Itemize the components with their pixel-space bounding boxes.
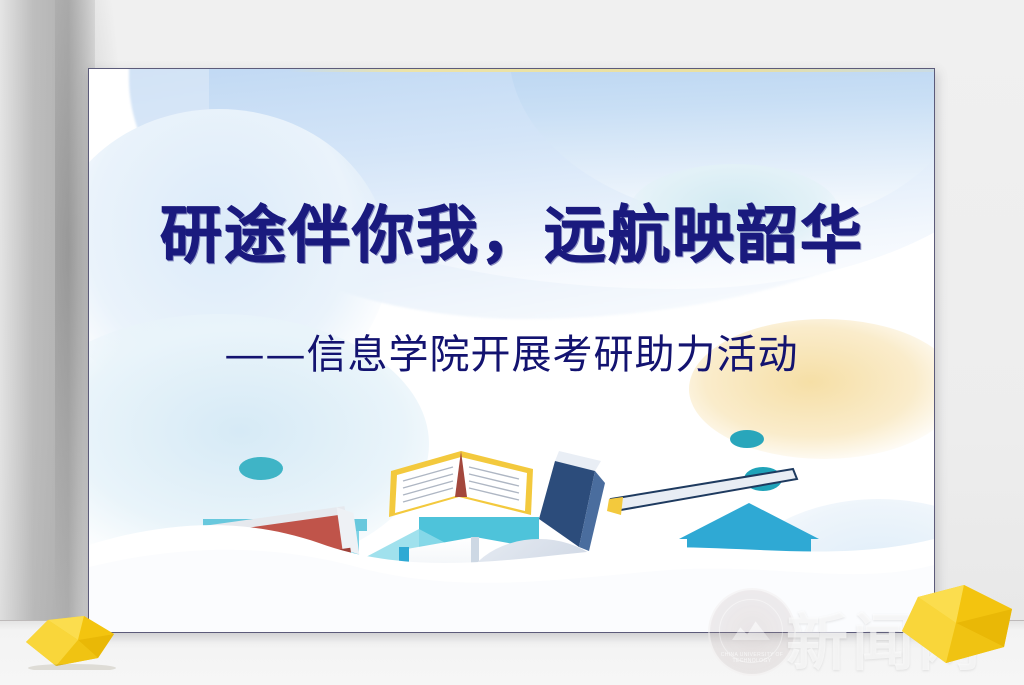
poster: 研途伴你我，远航映韶华 ——信息学院开展考研助力活动 <box>88 68 935 633</box>
page-title: 研途伴你我，远航映韶华 <box>89 184 934 274</box>
student-figure-far-left <box>468 586 498 632</box>
floating-dark-book <box>539 451 605 551</box>
page-subtitle: ——信息学院开展考研助力活动 <box>89 322 934 380</box>
university-logo-icon: CHINA UNIVERSITY OF TECHNOLOGY <box>708 588 796 676</box>
yellow-gem-right <box>900 583 1024 671</box>
logo-ring-text: CHINA UNIVERSITY OF TECHNOLOGY <box>710 652 794 664</box>
open-book-yellow-cover <box>389 451 533 517</box>
yellow-gem-left <box>22 612 122 670</box>
brown-box <box>613 627 673 632</box>
poster-top-highlight <box>289 69 934 72</box>
student-figure-pink <box>627 566 667 632</box>
flying-ruler <box>607 469 797 515</box>
photo-scene: 研途伴你我，远航映韶华 ——信息学院开展考研助力活动 <box>0 0 1024 685</box>
